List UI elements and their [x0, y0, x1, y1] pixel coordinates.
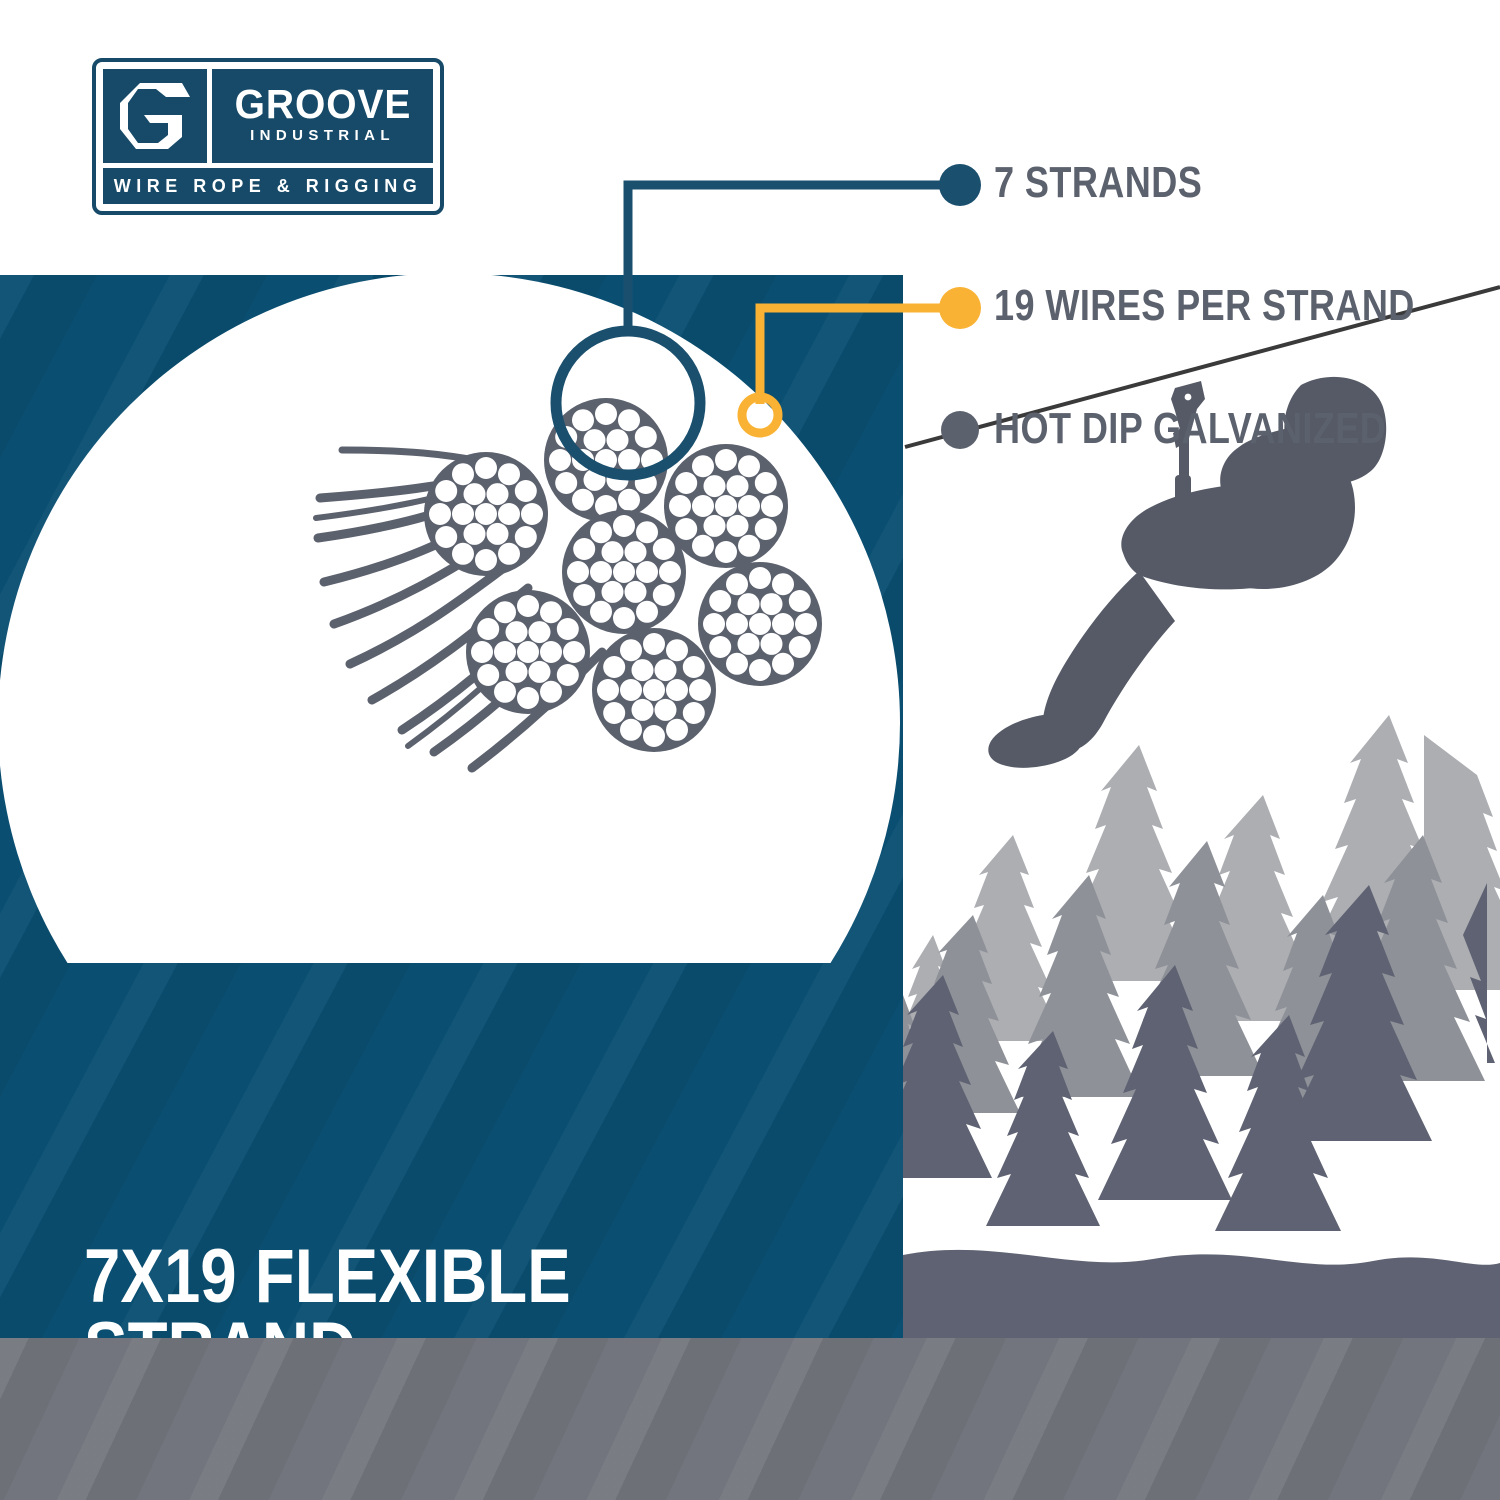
callout-dot-icon [939, 287, 981, 329]
groove-g-monogram-icon [103, 69, 207, 163]
callout-label-galvanized: HOT DIP GALVANIZED [994, 404, 1386, 454]
strand-core [562, 510, 686, 634]
brand-logo[interactable]: GROOVE INDUSTRIAL WIRE ROPE & RIGGING [92, 58, 444, 215]
callout-label-wires: 19 WIRES PER STRAND [994, 281, 1415, 331]
page-title: 7X19 FLEXIBLE STRAND CONSTRUCTION [84, 1241, 772, 1338]
strand [424, 452, 548, 576]
logo-subtitle: INDUSTRIAL [250, 128, 395, 143]
strand [592, 628, 716, 752]
callout-dot-icon [941, 411, 979, 449]
strand [466, 590, 590, 714]
callout-line-wires [760, 308, 953, 404]
infographic-canvas: 7X19 FLEXIBLE STRAND CONSTRUCTION Our ai… [0, 0, 1500, 1500]
callout-dot-icon [939, 164, 981, 206]
callout-label-strands: 7 STRANDS [994, 158, 1202, 208]
logo-tagline: WIRE ROPE & RIGGING [114, 176, 423, 197]
strand [698, 562, 822, 686]
footer-band [0, 1338, 1500, 1500]
logo-wordmark: GROOVE [234, 86, 411, 124]
